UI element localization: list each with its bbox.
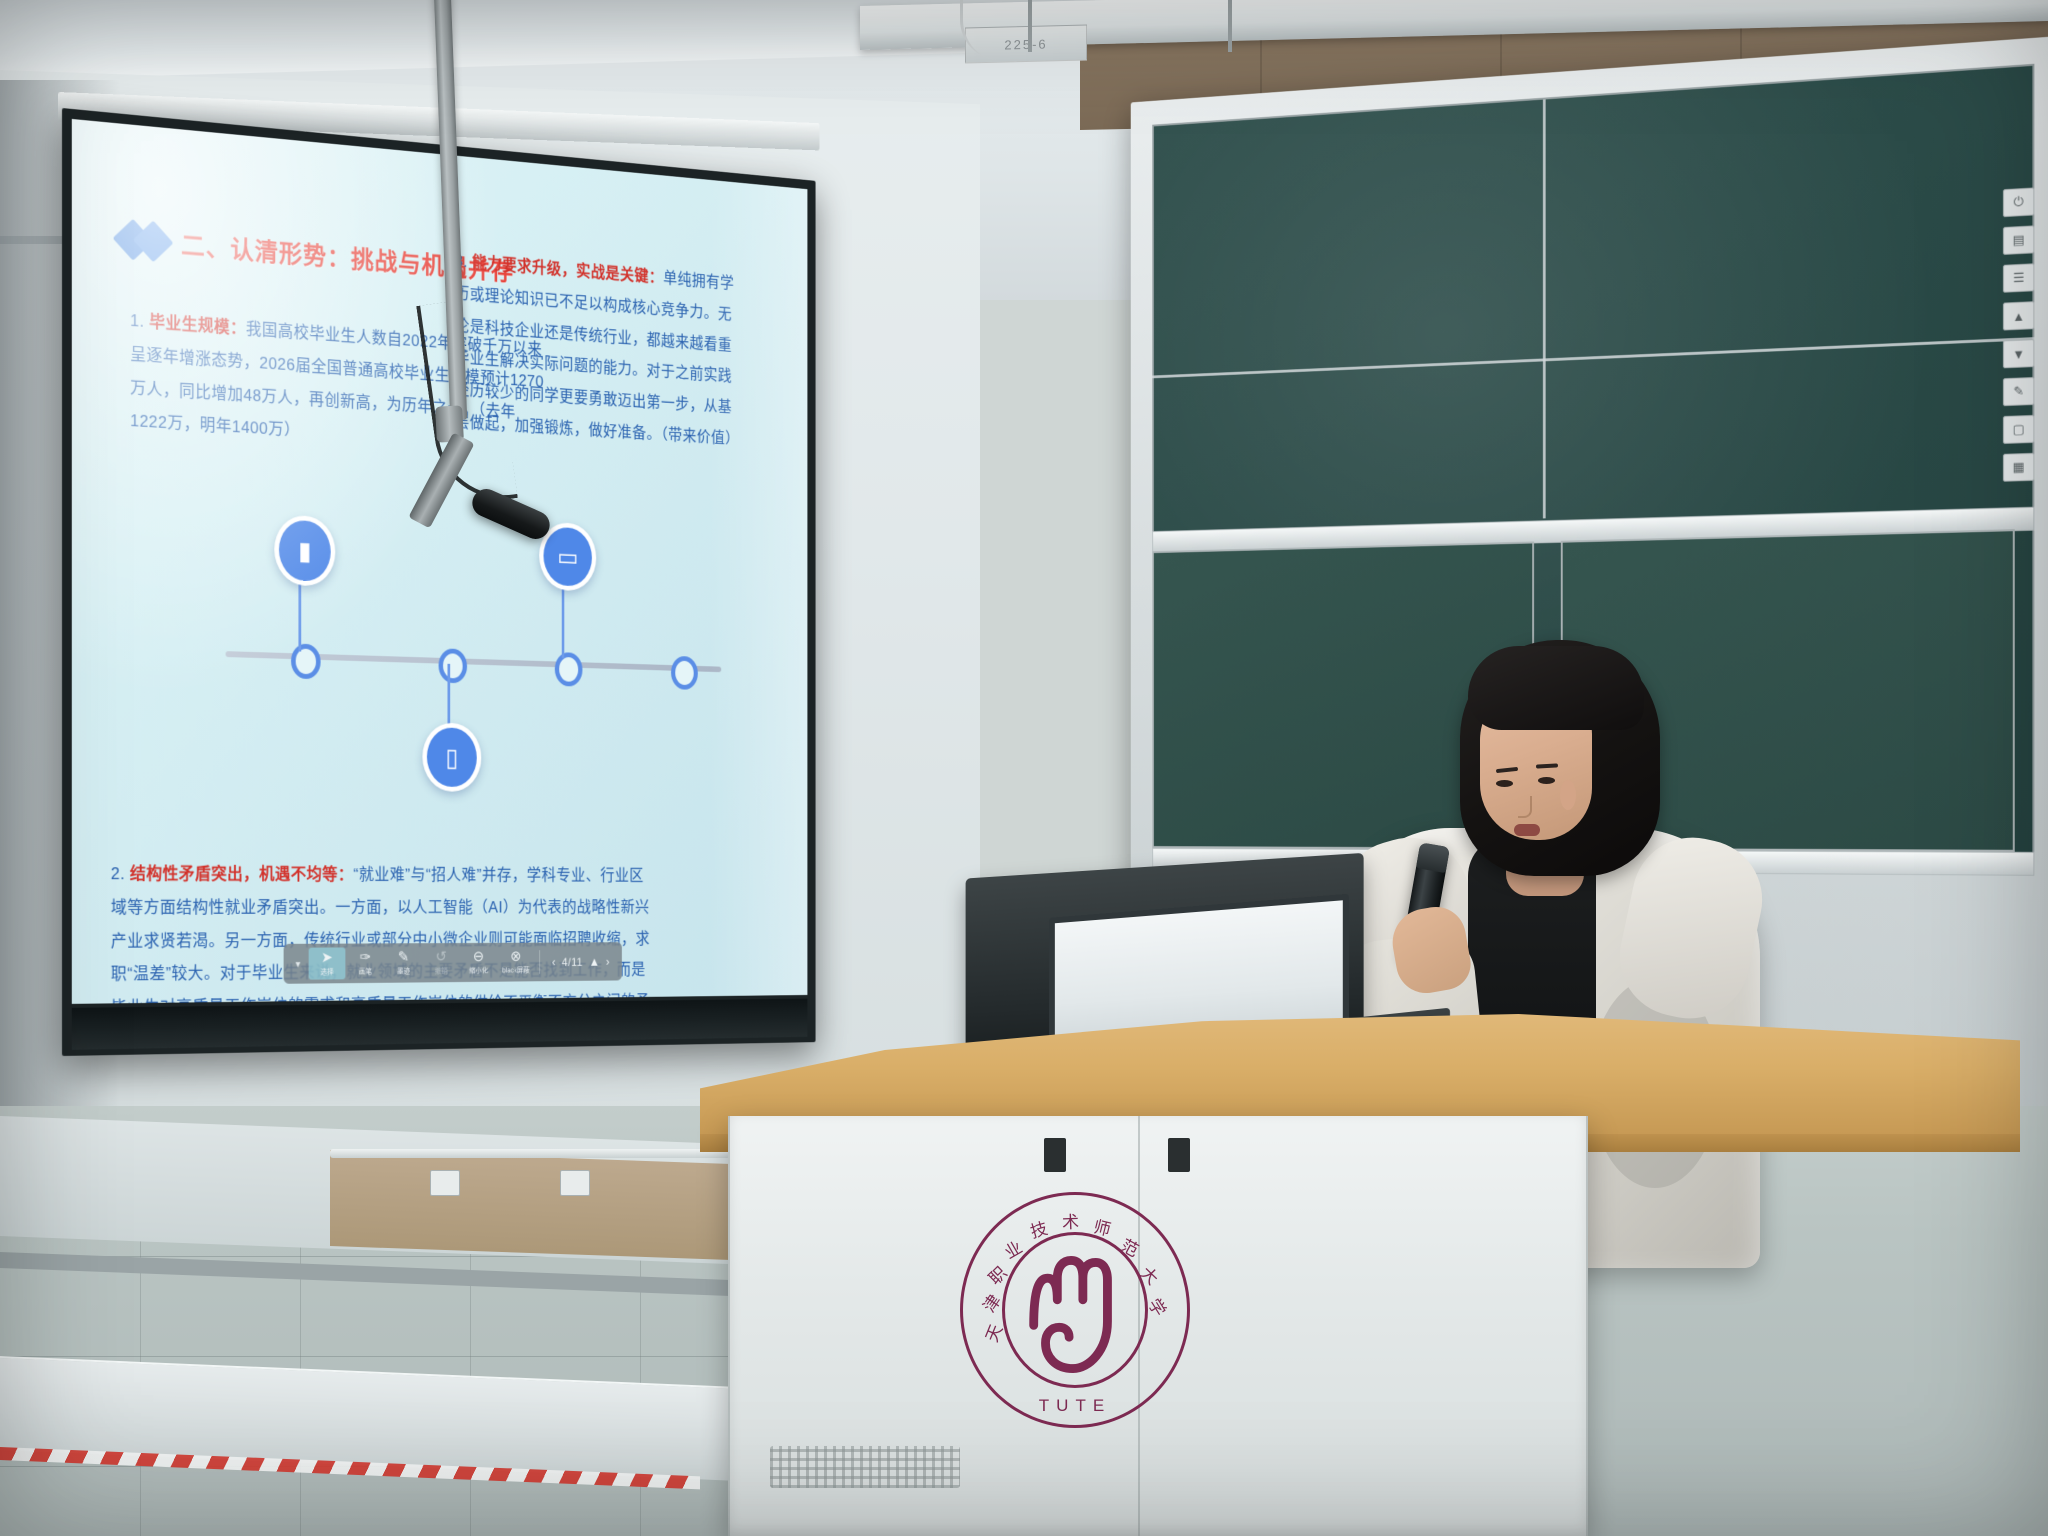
tute-university-logo: 天 津 职 业 技 术 师 范 大 学 TUTE [960, 1192, 1190, 1428]
screen-surface: 二、认清形势：挑战与机遇并存 1. 毕业生规模：我国高校毕业生人数自2022年突… [72, 119, 808, 1004]
pen-icon[interactable]: ✎ [2003, 377, 2034, 406]
toolbar-page-nav[interactable]: ‹ 4/11 ▲ › [545, 946, 617, 977]
paragraph-2-number: 2. [111, 865, 125, 883]
presentation-slide: 二、认清形势：挑战与机遇并存 1. 毕业生规模：我国高校毕业生人数自2022年突… [72, 119, 808, 1004]
highlighter-icon: ✎ [398, 950, 409, 964]
presenter-head [1460, 640, 1660, 876]
wall-outlet[interactable] [560, 1170, 590, 1196]
blackboard-divider [1543, 99, 1546, 518]
presenter-mouth [1514, 824, 1540, 836]
projection-screen[interactable]: 二、认清形势：挑战与机遇并存 1. 毕业生规模：我国高校毕业生人数自2022年突… [62, 108, 816, 1056]
presenter-ear [1560, 780, 1576, 810]
document-icon: ▯ [446, 745, 459, 770]
paragraph-1-lead: 毕业生规模： [149, 313, 246, 338]
slide-timeline-graphic: ▮ ▭ ▯ [188, 524, 738, 788]
up-icon[interactable]: ▲ [2003, 301, 2034, 330]
timeline-node [291, 643, 321, 679]
timeline-node [671, 656, 698, 690]
blackout-icon: ⊗ [510, 949, 521, 963]
timeline-bubble-document: ▯ [422, 722, 481, 792]
timeline-bubble-book: ▮ [274, 514, 335, 587]
menu-icon[interactable]: ☰ [2003, 263, 2034, 292]
prev-slide-button[interactable]: ‹ [552, 955, 556, 969]
pen-icon: ✑ [360, 950, 371, 965]
presenter-eye [1538, 777, 1555, 784]
wall-conduit [330, 1149, 730, 1158]
timeline-node [555, 652, 583, 687]
timeline-stem [447, 664, 450, 727]
toolbar-separator [539, 950, 540, 974]
wall-outlet[interactable] [430, 1170, 460, 1196]
podium-speaker-vent [770, 1446, 960, 1488]
timeline-node [439, 648, 467, 683]
logo-hand-mark [1016, 1249, 1134, 1377]
screen-bottom-bar [72, 999, 808, 1050]
down-icon[interactable]: ▼ [2003, 339, 2034, 368]
ceiling-hanger [1228, 0, 1232, 52]
source-icon[interactable]: ▤ [2003, 225, 2034, 255]
toolbar-blackout-button[interactable]: ⊗ black屏蔽 [498, 946, 534, 977]
ceiling-hanger [1028, 0, 1032, 52]
power-icon[interactable]: ⏻ [2003, 187, 2034, 217]
presenter-eye [1496, 780, 1513, 787]
paragraph-2-lead: 结构性矛盾突出，机遇不均等： [130, 865, 353, 883]
undo-icon: ↺ [436, 950, 447, 964]
diamond-bullet-icon [119, 224, 168, 258]
pointer-icon: ➤ [321, 950, 333, 965]
wall-wainscot [330, 1150, 760, 1261]
monitor-icon: ▭ [557, 544, 578, 569]
podium-door-handle[interactable] [1168, 1138, 1190, 1172]
logo-latin-text: TUTE [960, 1396, 1190, 1416]
paragraph-1-number: 1. [130, 312, 144, 331]
book-icon: ▮ [298, 538, 311, 564]
slide-page-indicator: 4/11 [562, 955, 583, 968]
toolbar-minimize-button[interactable]: ⊖ 缩小化 [461, 947, 496, 979]
minimize-icon: ⊖ [473, 950, 484, 964]
paragraph-2-body: “就业难”与“招人难”并存，学科专业、行业区域等方面结构性就业矛盾突出。一方面，… [111, 866, 650, 1003]
podium-door-handle[interactable] [1044, 1138, 1066, 1172]
presentation-toolbar[interactable]: ▼ ➤ 选择 ✑ 画笔 ✎ 墨迹 ↺ 撤销 [284, 942, 622, 984]
toolbar-collapse-caret[interactable]: ▼ [289, 948, 307, 980]
blackboard-control-strip[interactable]: ⏻ ▤ ☰ ▲ ▼ ✎ ▢ ▦ [2003, 187, 2036, 481]
toolbar-pen-button[interactable]: ✑ 画笔 [347, 947, 383, 979]
microphone-grill [1416, 842, 1450, 873]
toolbar-select-button[interactable]: ➤ 选择 [309, 947, 346, 979]
toolbar-ink-button[interactable]: ✎ 墨迹 [385, 947, 421, 979]
next-slide-button[interactable]: › [606, 954, 610, 968]
presenter-hair-fringe [1468, 646, 1644, 730]
eraser-icon[interactable]: ▢ [2003, 415, 2034, 444]
paragraph-3-lead: 能力要求升级，实战是关键： [472, 254, 663, 287]
classroom-scene: 225-6 ⏻ ▤ ☰ ▲ ▼ ✎ ▢ ▦ [0, 0, 2048, 1536]
presenter-nose [1518, 796, 1532, 818]
toolbar-undo-button[interactable]: ↺ 撤销 [423, 947, 459, 979]
slide-list-button[interactable]: ▲ [589, 954, 600, 968]
grid-icon[interactable]: ▦ [2003, 453, 2034, 482]
